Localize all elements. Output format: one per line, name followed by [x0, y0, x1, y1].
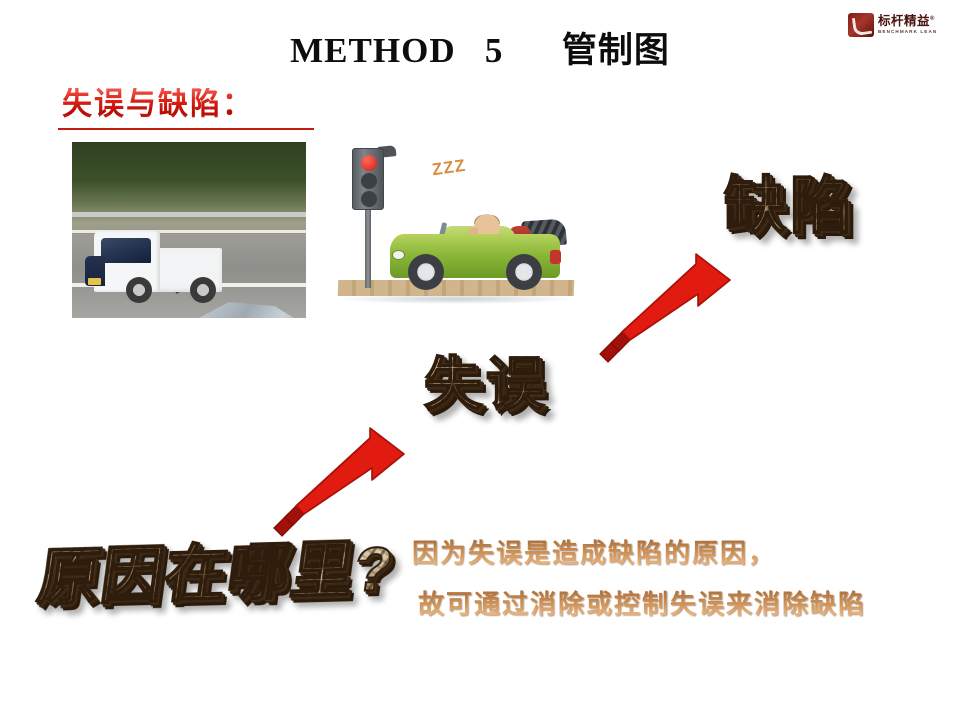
traffic-light-red-lamp [361, 155, 377, 171]
truck-body [94, 216, 222, 292]
subtitle-text: 失误与缺陷： [62, 88, 254, 121]
traffic-light-icon [352, 148, 384, 210]
traffic-light-amber-lamp [361, 173, 377, 189]
arrow-mistake-to-defect [578, 250, 738, 370]
truck-license-plate [88, 278, 101, 285]
truck-photo [72, 142, 306, 318]
cartoon-ground-shadow [338, 294, 574, 304]
zzz-sleep-icon: ZZZ [431, 156, 468, 181]
traffic-light-pole [365, 204, 371, 288]
truck-window [101, 238, 151, 263]
wordart-mistake: 失误 [424, 356, 548, 414]
wordart-defect: 缺陷 [724, 176, 856, 238]
caption-line-1: 因为失误是造成缺陷的原因， [412, 528, 866, 579]
page-title: METHOD 5 管制图 [0, 22, 960, 73]
green-convertible-car [390, 198, 566, 290]
car-rear-wheel [506, 254, 542, 290]
wordart-cause-question: 原因在哪里? [34, 539, 397, 610]
conclusion-caption: 因为失误是造成缺陷的原因， 故可通过消除或控制失误来消除缺陷 [412, 528, 866, 629]
caption-line-2: 故可通过消除或控制失误来消除缺陷 [412, 579, 866, 630]
sleeping-driver-cartoon: ZZZ [334, 136, 582, 318]
truck-rear-wheel [190, 277, 216, 303]
subtitle-underline [58, 128, 314, 130]
car-taillight [550, 250, 561, 264]
slide-canvas: 标杆精益® BENCHMARK LEAN METHOD 5 管制图 失误与缺陷： [0, 0, 960, 720]
truck-front-wheel [126, 277, 152, 303]
car-front-wheel [408, 254, 444, 290]
arrow-cause-to-mistake [252, 424, 412, 544]
car-headlight [392, 250, 405, 260]
subtitle-block: 失误与缺陷： [62, 88, 254, 120]
traffic-light-green-lamp [361, 191, 377, 207]
